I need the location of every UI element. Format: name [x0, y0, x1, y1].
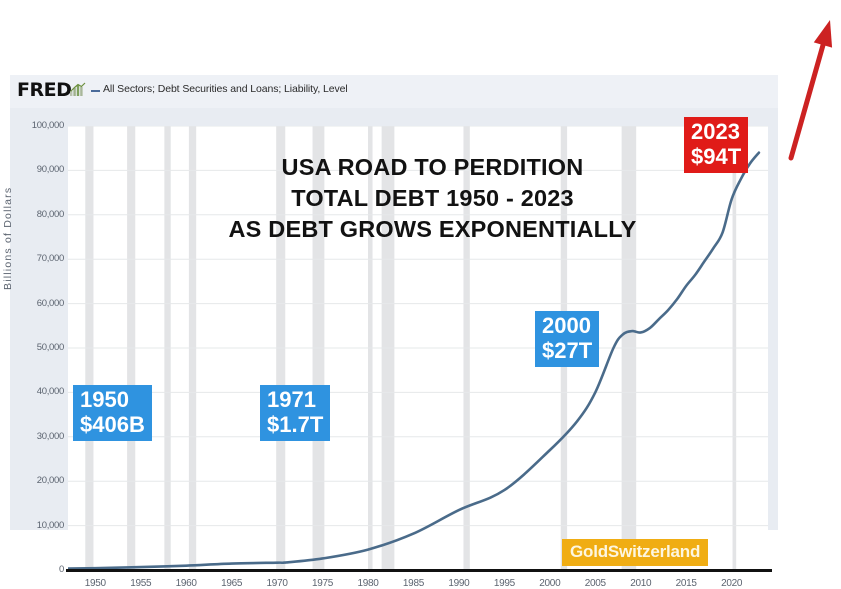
annot-2000-value: $27T: [542, 338, 592, 363]
fred-chart-panel: FRED All Sectors; Debt Securities and Lo…: [10, 75, 778, 530]
annot-1971-year: 1971: [267, 387, 323, 412]
annot-2023-year: 2023: [691, 119, 741, 144]
y-axis-title: Billions of Dollars: [2, 187, 14, 290]
x-axis-baseline: [66, 569, 772, 572]
x-axis-tick: 1965: [209, 578, 255, 589]
headline-line-3: AS DEBT GROWS EXPONENTIALLY: [205, 214, 660, 245]
x-axis-tick: 1960: [163, 578, 209, 589]
y-axis-tick: 60,000: [4, 298, 64, 309]
x-axis-tick: 1975: [300, 578, 346, 589]
annot-1950-year: 1950: [80, 387, 145, 412]
red-arrow-shaft: [791, 31, 827, 158]
x-axis-tick: 1980: [345, 578, 391, 589]
chart-headline: USA ROAD TO PERDITION TOTAL DEBT 1950 - …: [205, 152, 660, 245]
y-axis-tick: 100,000: [4, 120, 64, 131]
fred-chart-header: FRED All Sectors; Debt Securities and Lo…: [10, 75, 778, 108]
annot-2000: 2000$27T: [535, 311, 599, 367]
x-axis-tick: 1990: [436, 578, 482, 589]
annot-2023-value: $94T: [691, 144, 741, 169]
x-axis-tick: 1955: [118, 578, 164, 589]
headline-line-1: USA ROAD TO PERDITION: [205, 152, 660, 183]
x-axis-tick: 2015: [663, 578, 709, 589]
y-axis-tick: 80,000: [4, 209, 64, 220]
y-axis-tick: 40,000: [4, 386, 64, 397]
y-axis-tick: 30,000: [4, 431, 64, 442]
screenshot-canvas: FRED All Sectors; Debt Securities and Lo…: [0, 0, 841, 547]
y-axis-tick: 10,000: [4, 520, 64, 531]
fred-bar-chart-icon: [70, 82, 86, 96]
y-axis-tick: 50,000: [4, 342, 64, 353]
x-axis-tick: 2020: [709, 578, 755, 589]
annot-1950: 1950$406B: [73, 385, 152, 441]
headline-line-2: TOTAL DEBT 1950 - 2023: [205, 183, 660, 214]
x-axis-tick: 2000: [527, 578, 573, 589]
legend-line-swatch: [91, 90, 100, 92]
x-axis-tick: 1970: [254, 578, 300, 589]
x-axis-tick: 2005: [572, 578, 618, 589]
annot-2000-year: 2000: [542, 313, 592, 338]
legend-series-label: All Sectors; Debt Securities and Loans; …: [103, 83, 348, 95]
annot-1971-value: $1.7T: [267, 412, 323, 437]
y-axis-tick: 90,000: [4, 164, 64, 175]
x-axis-tick: 1995: [481, 578, 527, 589]
annot-2023: 2023$94T: [684, 117, 748, 173]
x-axis-tick: 1950: [72, 578, 118, 589]
annot-1950-value: $406B: [80, 412, 145, 437]
fred-logo: FRED: [17, 80, 71, 100]
y-axis-tick: 0: [4, 564, 64, 575]
goldswitzerland-watermark: GoldSwitzerland: [562, 539, 708, 566]
x-axis-tick: 2010: [618, 578, 664, 589]
annot-1971: 1971$1.7T: [260, 385, 330, 441]
x-axis-tick: 1985: [390, 578, 436, 589]
y-axis-tick: 20,000: [4, 475, 64, 486]
y-axis-tick: 70,000: [4, 253, 64, 264]
red-arrow-head: [814, 20, 832, 48]
